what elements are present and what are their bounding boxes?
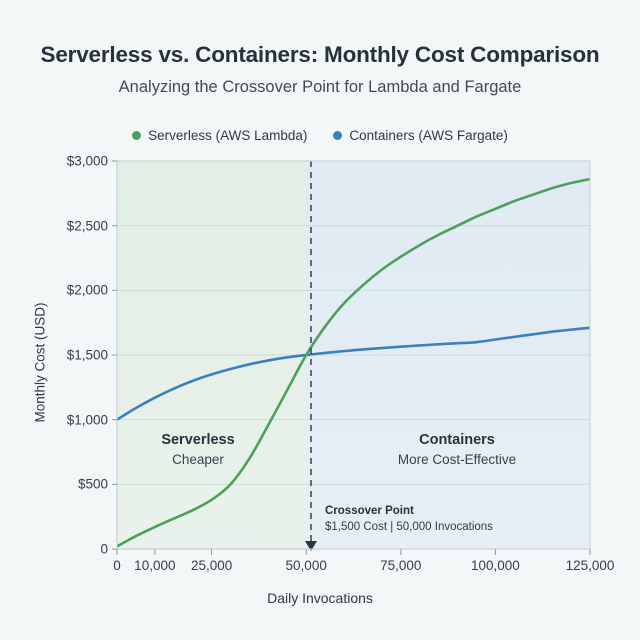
x-tick-label: 25,000	[191, 558, 232, 573]
containers-region-title: Containers	[419, 432, 495, 448]
x-tick-label: 0	[113, 558, 121, 573]
area-containers	[306, 161, 590, 549]
y-tick-label: $500	[0, 477, 108, 492]
chart-figure: Serverless vs. Containers: Monthly Cost …	[0, 0, 640, 640]
crossover-annotation-title: Crossover Point	[325, 505, 414, 517]
area-serverless	[117, 161, 306, 549]
x-tick-label: 50,000	[286, 558, 327, 573]
x-tick-label: 75,000	[380, 558, 421, 573]
y-tick-label: $2,000	[0, 283, 108, 298]
y-tick-label: $1,000	[0, 412, 108, 427]
y-axis-label: Monthly Cost (USD)	[33, 263, 48, 463]
serverless-region-title: Serverless	[161, 432, 234, 448]
x-tick-label: 10,000	[134, 558, 175, 573]
y-axis-tick-labels: 0$500$1,000$1,500$2,000$2,500$3,000	[0, 0, 108, 640]
x-tick-marks	[117, 549, 590, 555]
y-tick-label: $1,500	[0, 348, 108, 363]
crossover-annotation-subtitle: $1,500 Cost | 50,000 Invocations	[325, 521, 493, 533]
x-tick-label: 125,000	[566, 558, 615, 573]
y-tick-label: $3,000	[0, 154, 108, 169]
serverless-region-subtitle: Cheaper	[172, 452, 224, 467]
y-tick-label: 0	[0, 542, 108, 557]
y-tick-label: $2,500	[0, 218, 108, 233]
x-axis-label: Daily Invocations	[0, 590, 640, 606]
containers-region-subtitle: More Cost-Effective	[398, 452, 516, 467]
x-tick-label: 100,000	[471, 558, 520, 573]
y-tick-marks	[112, 161, 117, 549]
